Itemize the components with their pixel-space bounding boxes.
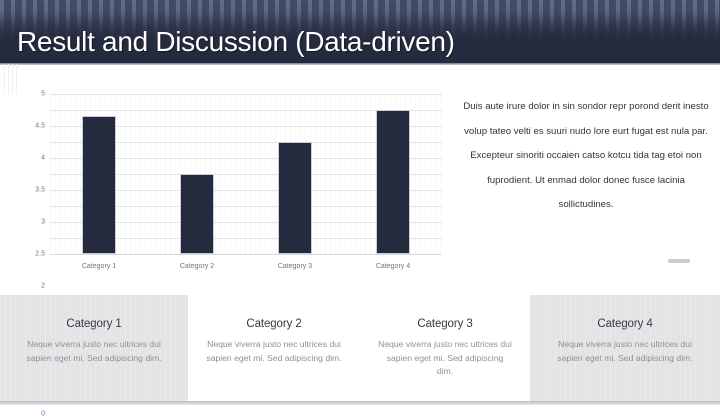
chart-plot-area: 54.543.532.521.510.50Category 1Category … bbox=[50, 94, 442, 254]
paragraph-underline-accent bbox=[668, 259, 690, 263]
category-card[interactable]: Category 4Neque viverra justo nec ultric… bbox=[530, 295, 720, 401]
chart-y-tick-label: 3.5 bbox=[35, 187, 45, 194]
chart-bar[interactable] bbox=[180, 174, 214, 254]
slide-bottom-divider bbox=[0, 401, 720, 405]
category-cards-row: Category 1Neque viverra justo nec ultric… bbox=[0, 295, 720, 401]
header-bottom-divider bbox=[0, 63, 720, 65]
category-card-title: Category 2 bbox=[206, 317, 342, 331]
chart-bar[interactable] bbox=[82, 116, 116, 254]
chart-y-tick-label: 4.5 bbox=[35, 123, 45, 130]
category-card[interactable]: Category 3Neque viverra justo nec ultric… bbox=[360, 295, 530, 401]
chart-y-tick-label: 4 bbox=[41, 155, 45, 162]
page-title: Result and Discussion (Data-driven) bbox=[17, 25, 455, 59]
category-card-body: Neque viverra justo nec ultrices dui sap… bbox=[206, 338, 342, 365]
slide-canvas: Result and Discussion (Data-driven) 54.5… bbox=[0, 0, 720, 405]
chart-x-tick-label: Category 2 bbox=[180, 263, 214, 270]
chart-y-tick-label: 3 bbox=[41, 219, 45, 226]
chart-y-tick-label: 0 bbox=[41, 411, 45, 418]
category-card[interactable]: Category 2Neque viverra justo nec ultric… bbox=[188, 295, 360, 401]
category-card[interactable]: Category 1Neque viverra justo nec ultric… bbox=[0, 295, 188, 401]
category-card-body: Neque viverra justo nec ultrices dui sap… bbox=[378, 338, 512, 379]
discussion-paragraph: Duis aute irure dolor in sin sondor repr… bbox=[462, 95, 710, 218]
chart-y-tick-label: 2 bbox=[41, 283, 45, 290]
chart-bar[interactable] bbox=[376, 110, 410, 254]
chart-x-tick-label: Category 1 bbox=[82, 263, 116, 270]
category-card-title: Category 1 bbox=[18, 317, 170, 331]
chart-gridline: 0 bbox=[50, 254, 442, 255]
category-card-title: Category 4 bbox=[548, 317, 702, 331]
category-card-body: Neque viverra justo nec ultrices dui sap… bbox=[18, 338, 170, 365]
chart-gridline: 5 bbox=[50, 94, 442, 95]
bar-chart: 54.543.532.521.510.50Category 1Category … bbox=[22, 88, 442, 268]
chart-y-tick-label: 2.5 bbox=[35, 251, 45, 258]
category-card-body: Neque viverra justo nec ultrices dui sap… bbox=[549, 338, 701, 365]
chart-bar[interactable] bbox=[278, 142, 312, 254]
category-card-title: Category 3 bbox=[378, 317, 512, 331]
decorative-left-stripes bbox=[4, 64, 18, 94]
chart-x-tick-label: Category 4 bbox=[376, 263, 410, 270]
chart-y-tick-label: 5 bbox=[41, 91, 45, 98]
chart-x-tick-label: Category 3 bbox=[278, 263, 312, 270]
